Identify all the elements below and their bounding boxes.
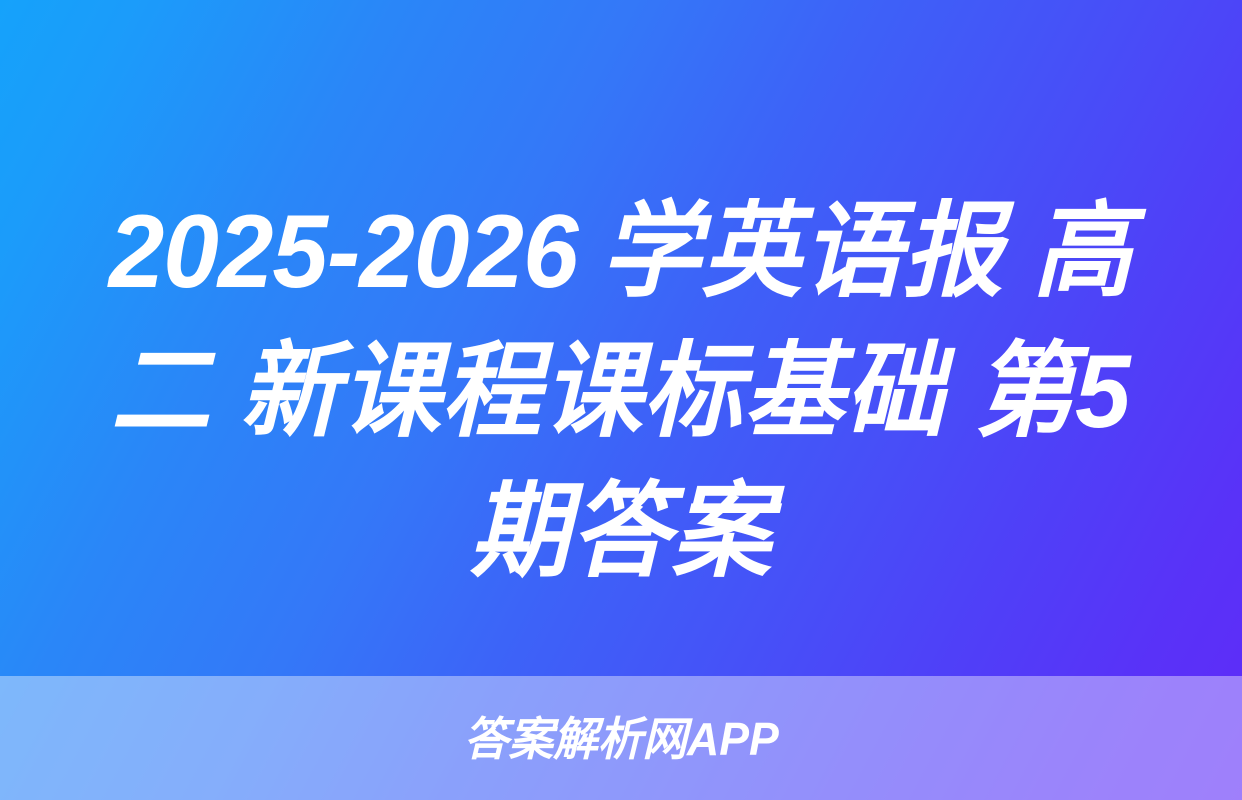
poster-title: 2025-2026学英语报 高 二 新课程课标基础 第5 期答案 [0, 182, 1242, 602]
title-line-2: 二 新课程课标基础 第5 [69, 322, 1173, 462]
title-line-1: 2025-2026学英语报 高 [69, 182, 1173, 322]
footer-band: 答案解析网APP [0, 676, 1242, 800]
title-line-1-rest: 学英语报 高 [601, 194, 1134, 310]
footer-brand-label: 答案解析网APP [464, 716, 779, 762]
title-year-range: 2025-2026 [109, 194, 578, 310]
title-line-3: 期答案 [69, 462, 1173, 602]
poster-canvas: 2025-2026学英语报 高 二 新课程课标基础 第5 期答案 答案解析网AP… [0, 0, 1242, 800]
